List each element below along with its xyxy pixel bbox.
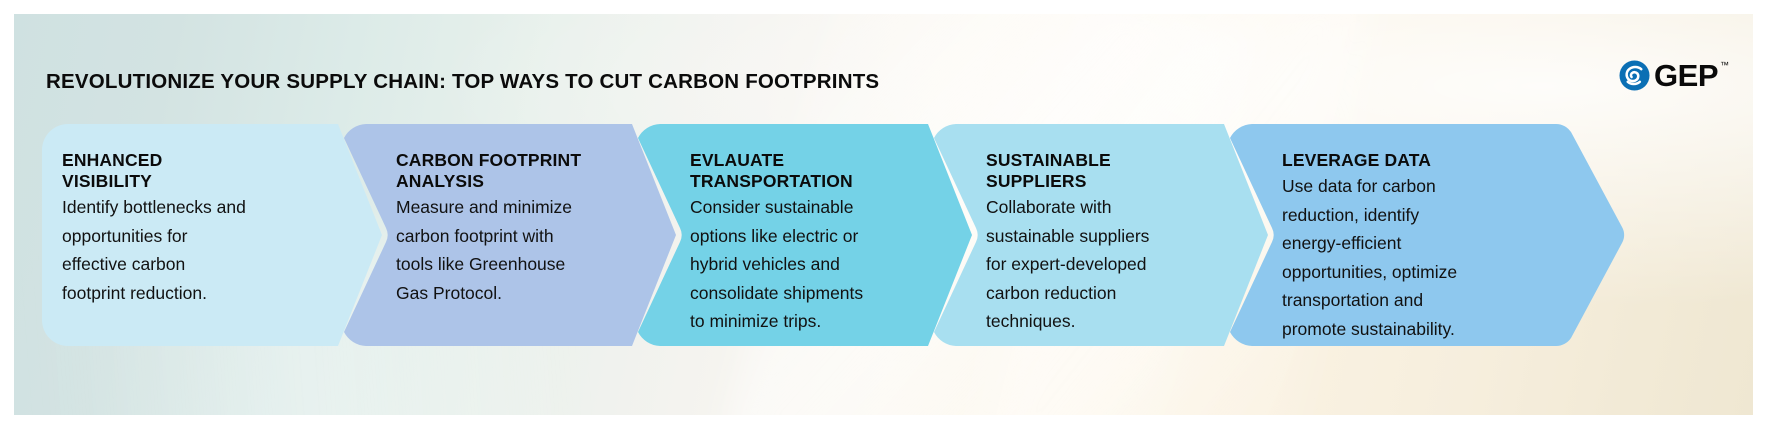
trademark-symbol: ™	[1720, 60, 1729, 70]
infographic-root: REVOLUTIONIZE YOUR SUPPLY CHAIN: TOP WAY…	[0, 0, 1767, 433]
gep-wordmark: GEP	[1654, 60, 1718, 91]
step-description: Measure and minimize carbon footprint wi…	[396, 193, 662, 307]
step-description: Use data for carbon reduction, identify …	[1282, 172, 1568, 343]
step-enhanced-visibility[interactable]: ENHANCED VISIBILITY Identify bottlenecks…	[42, 124, 382, 346]
step-evaluate-transportation[interactable]: EVLAUATE TRANSPORTATION Consider sustain…	[634, 124, 972, 346]
gep-logo: GEP ™	[1619, 58, 1729, 92]
step-title: CARBON FOOTPRINT ANALYSIS	[396, 150, 662, 192]
step-title: SUSTAINABLE SUPPLIERS	[986, 150, 1254, 192]
process-chevron-row: ENHANCED VISIBILITY Identify bottlenecks…	[42, 124, 1742, 346]
step-sustainable-suppliers[interactable]: SUSTAINABLE SUPPLIERS Collaborate with s…	[930, 124, 1268, 346]
page-title: REVOLUTIONIZE YOUR SUPPLY CHAIN: TOP WAY…	[46, 70, 879, 94]
step-description: Collaborate with sustainable suppliers f…	[986, 193, 1254, 336]
step-carbon-footprint-analysis[interactable]: CARBON FOOTPRINT ANALYSIS Measure and mi…	[340, 124, 676, 346]
infographic-canvas: REVOLUTIONIZE YOUR SUPPLY CHAIN: TOP WAY…	[14, 14, 1753, 415]
step-title: EVLAUATE TRANSPORTATION	[690, 150, 960, 192]
step-title: ENHANCED VISIBILITY	[62, 150, 356, 192]
step-description: Consider sustainable options like electr…	[690, 193, 960, 336]
step-title: LEVERAGE DATA	[1282, 150, 1568, 171]
step-description: Identify bottlenecks and opportunities f…	[62, 193, 356, 307]
step-leverage-data[interactable]: LEVERAGE DATA Use data for carbon reduct…	[1226, 124, 1626, 346]
gep-swirl-icon	[1619, 60, 1650, 91]
